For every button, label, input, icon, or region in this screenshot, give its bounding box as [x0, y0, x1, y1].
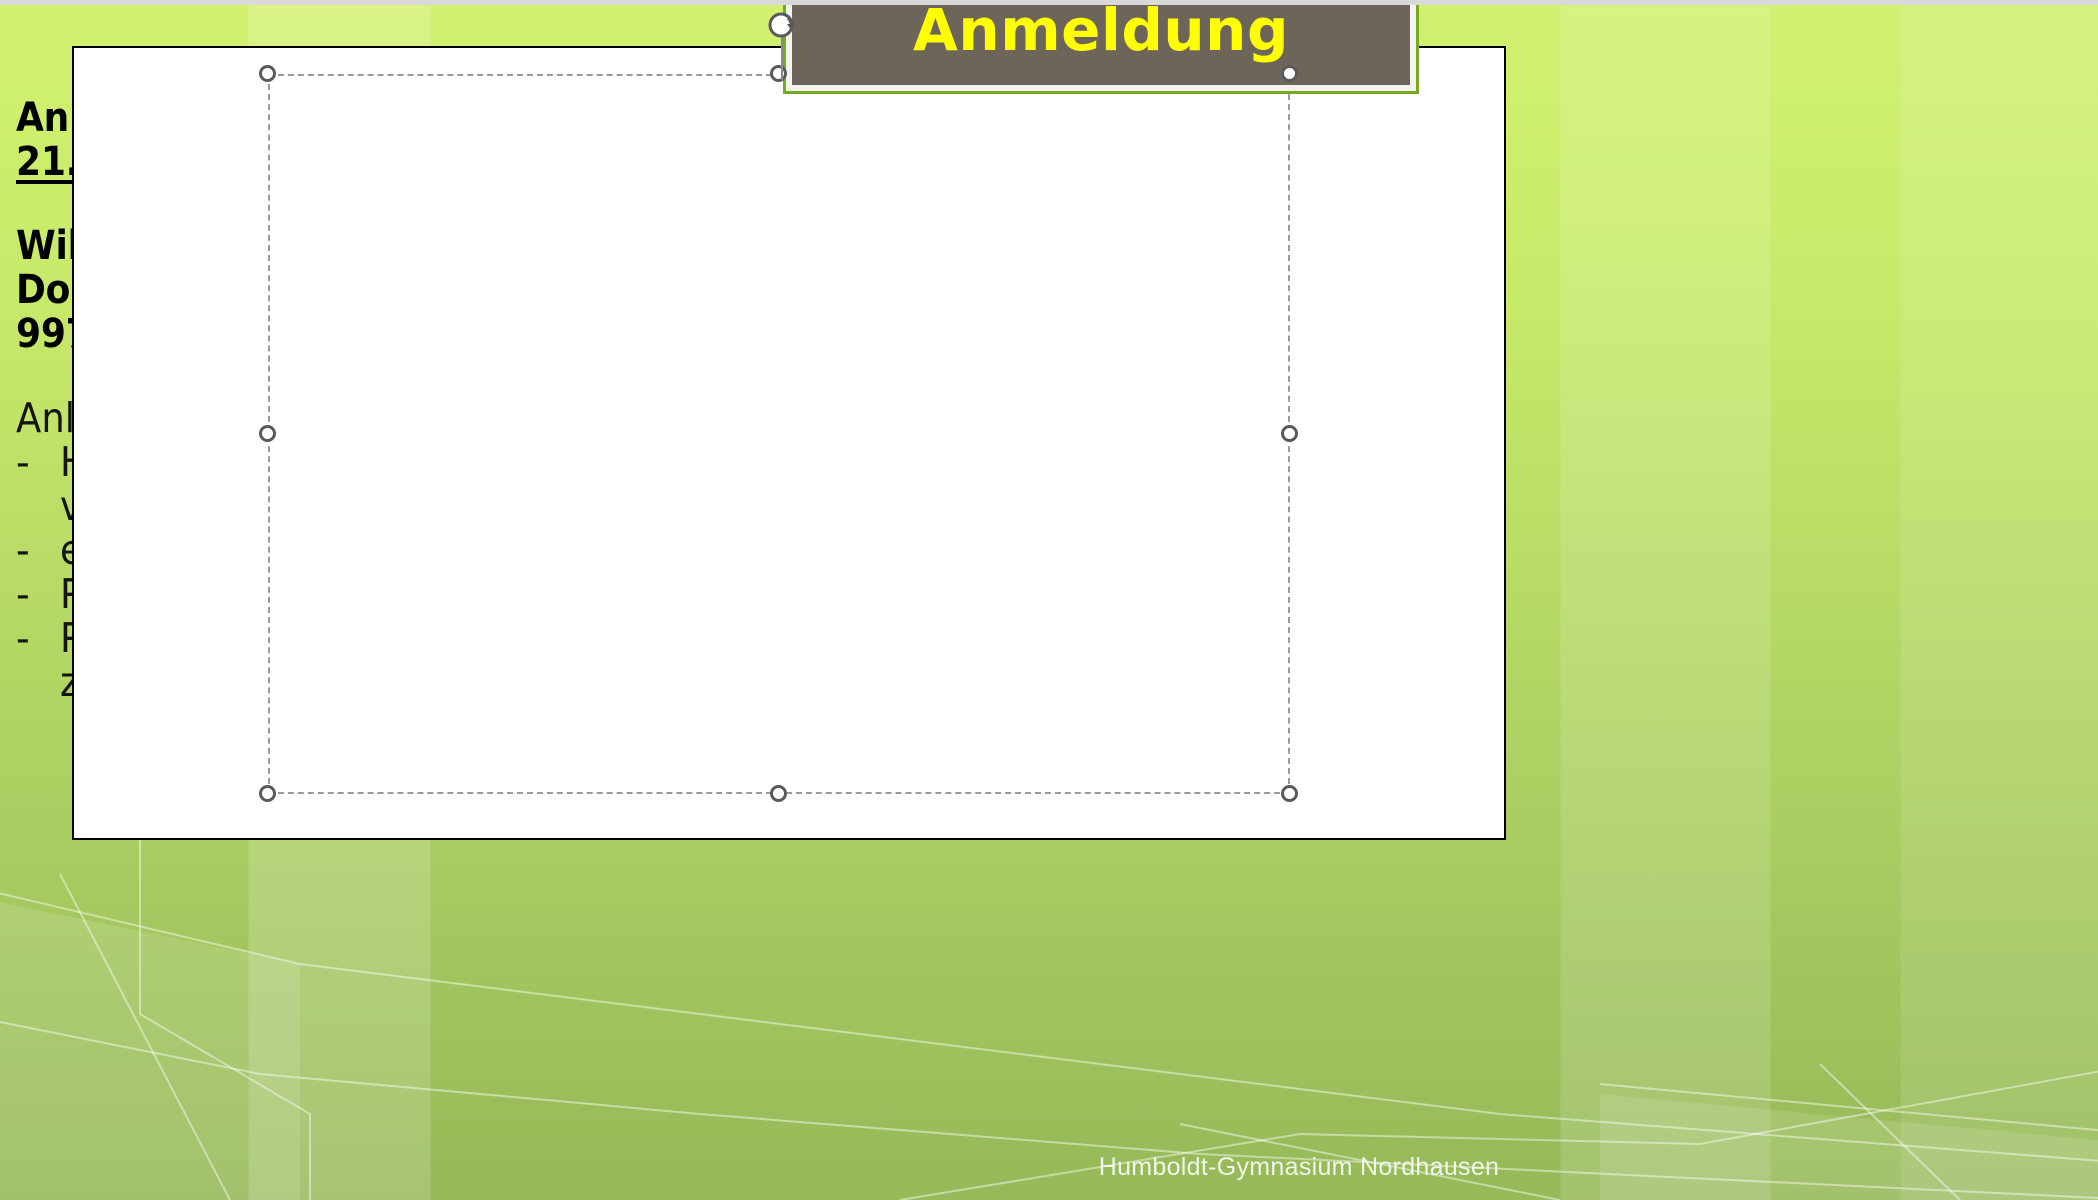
bullet-dash-icon: - [16, 528, 60, 572]
slide-footer: Humboldt-Gymnasium Nordhausen [0, 1153, 2098, 1182]
bullet-dash-icon: - [16, 616, 60, 660]
selection-handle-top-center[interactable] [770, 65, 787, 82]
slide-footer-label: Humboldt-Gymnasium Nordhausen [1099, 1153, 1500, 1181]
rotate-handle-icon[interactable] [764, 8, 798, 42]
body-text-placeholder[interactable] [268, 74, 1290, 794]
selection-handle-bottom-left[interactable] [259, 785, 276, 802]
bullet-dash-icon: - [16, 572, 60, 616]
canvas-top-strip [0, 0, 2098, 5]
title-placeholder[interactable]: Anmeldung [783, 0, 1419, 94]
selection-handle-top-left[interactable] [259, 65, 276, 82]
bullet-dash-icon: - [16, 440, 60, 484]
selection-handle-top-right[interactable] [1281, 65, 1298, 82]
selection-handle-bottom-right[interactable] [1281, 785, 1298, 802]
selection-handle-middle-right[interactable] [1281, 425, 1298, 442]
slide-title: Anmeldung [783, 0, 1419, 85]
slide-canvas: Anmeldeformular ausgedruckt und ausgefül… [0, 0, 2098, 1200]
selection-handle-middle-left[interactable] [259, 425, 276, 442]
selection-handle-bottom-center[interactable] [770, 785, 787, 802]
